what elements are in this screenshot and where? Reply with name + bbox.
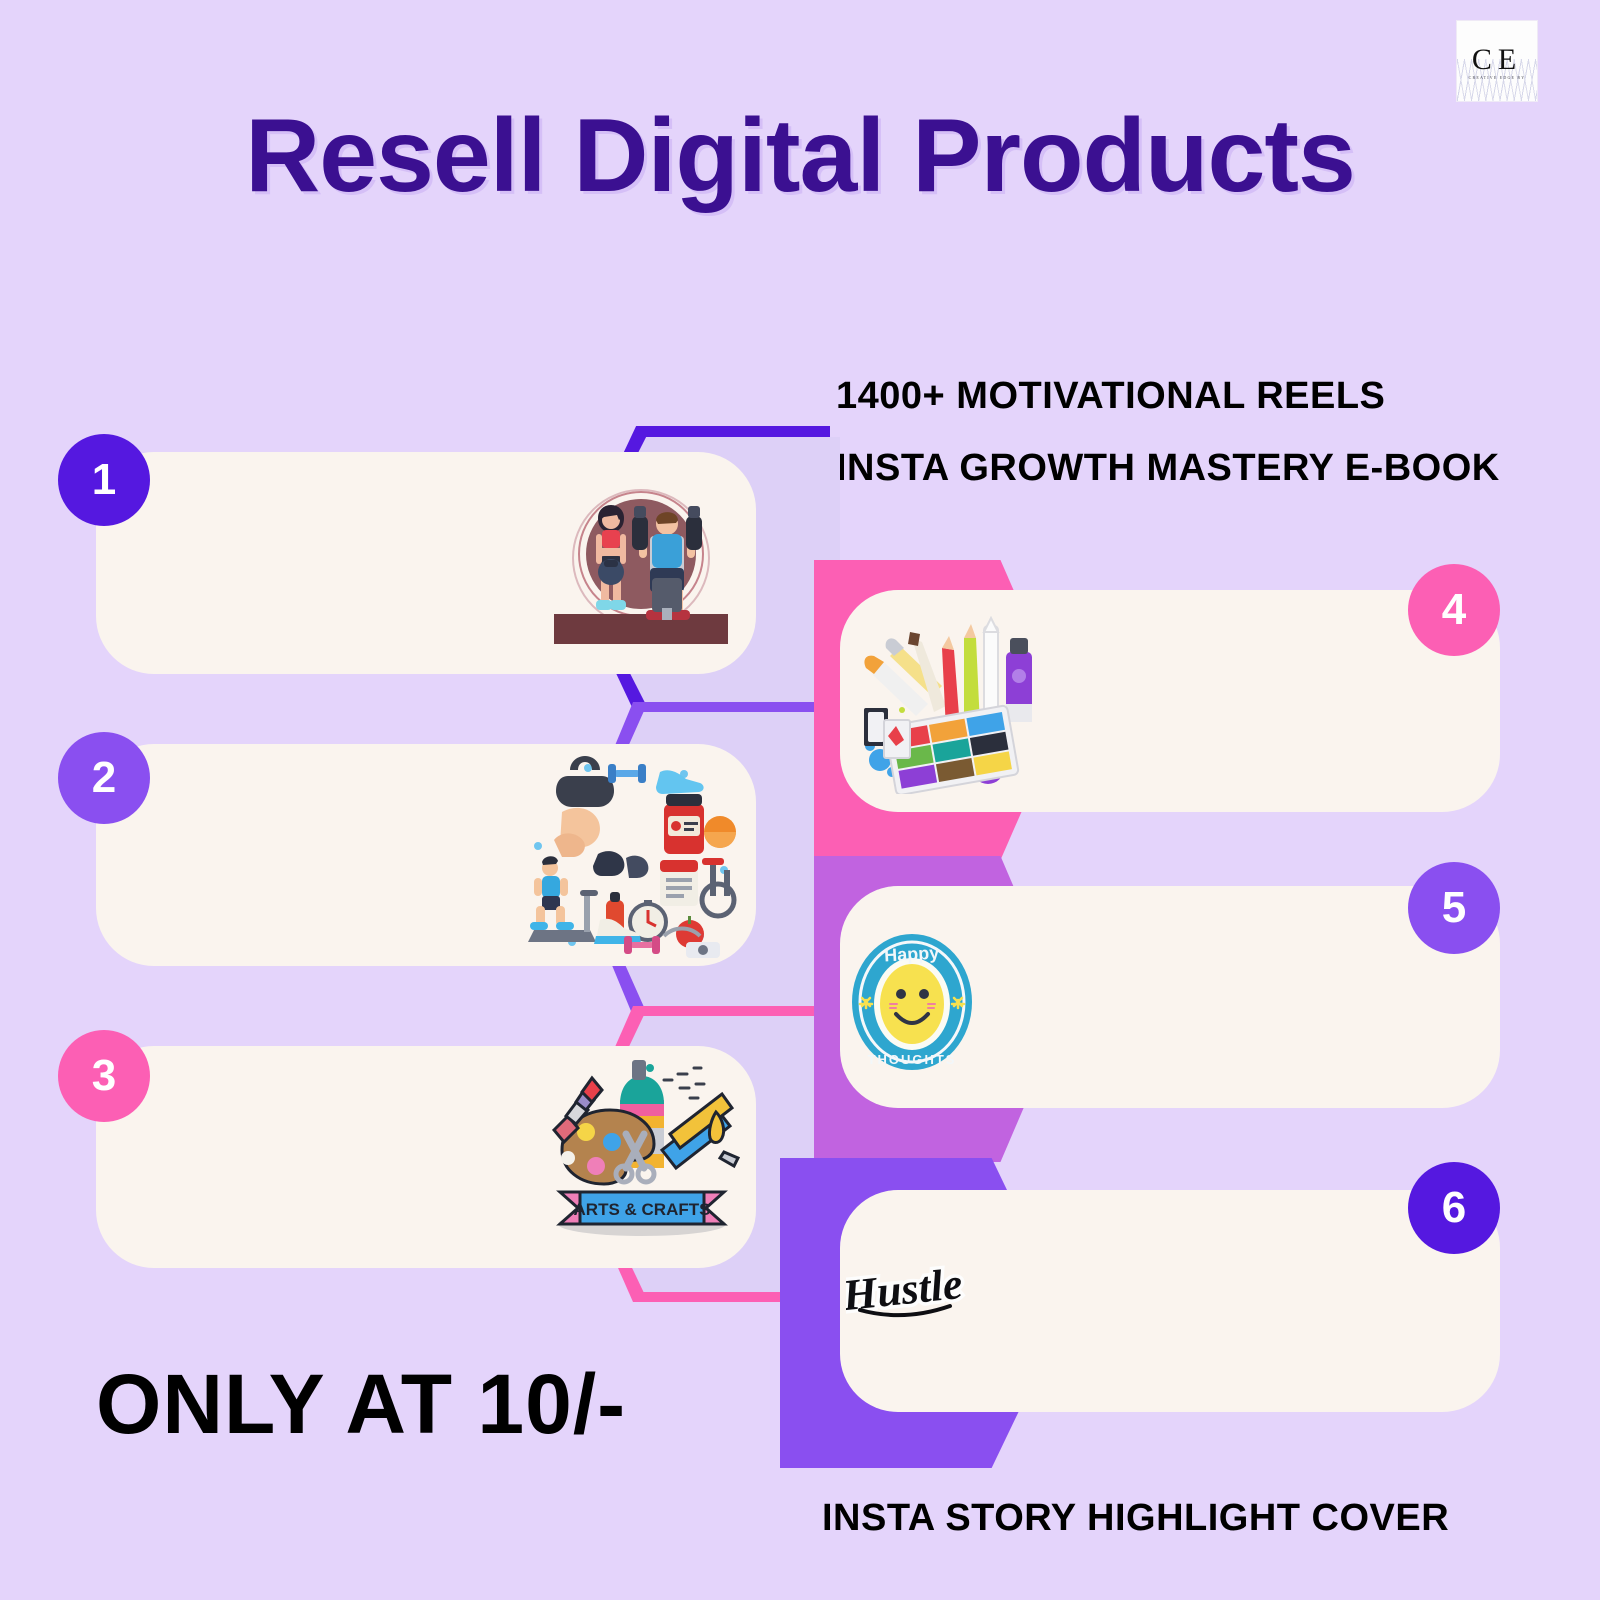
- infographic-canvas: CE CREATIVE EDGE BY Resell Digital Produ…: [0, 0, 1600, 1600]
- badge-product-5: 5: [1408, 862, 1500, 954]
- page-title: Resell Digital Products: [0, 104, 1600, 208]
- badge-number: 3: [92, 1051, 116, 1101]
- badge-product-6: 6: [1408, 1162, 1500, 1254]
- badge-number: 1: [92, 455, 116, 505]
- logo-tagline: CREATIVE EDGE BY: [1457, 75, 1537, 80]
- gym-workout-icon: [546, 472, 736, 654]
- paint-palette-icon: [848, 612, 1040, 794]
- headline-top-ebook: INSTA GROWTH MASTERY E-BOOK: [836, 447, 1500, 490]
- badge-product-2: 2: [58, 732, 150, 824]
- badge-number: 6: [1442, 1183, 1466, 1233]
- brand-logo: CE CREATIVE EDGE BY: [1456, 20, 1538, 102]
- happy-thoughts-smiley-icon: Happy THOUGHTS: [846, 930, 978, 1074]
- fitness-products-icon: [514, 750, 746, 962]
- badge-number: 4: [1442, 585, 1466, 635]
- price-callout: ONLY AT 10/-: [96, 1356, 626, 1453]
- badge-number: 2: [92, 753, 116, 803]
- logo-monogram: CE: [1457, 45, 1537, 75]
- logo-inner: CE CREATIVE EDGE BY: [1457, 21, 1537, 101]
- headline-top-reels: 1400+ MOTIVATIONAL REELS: [836, 375, 1385, 418]
- badge-product-3: 3: [58, 1030, 150, 1122]
- arts-and-crafts-icon: ARTS & CRAFTS: [538, 1042, 746, 1242]
- badge-product-1: 1: [58, 434, 150, 526]
- thoughts-text: THOUGHTS: [868, 1052, 957, 1067]
- badge-product-4: 4: [1408, 564, 1500, 656]
- happy-text: Happy: [884, 943, 940, 966]
- arts-banner-text: ARTS & CRAFTS: [574, 1200, 711, 1219]
- headline-bottom-highlight-cover: INSTA STORY HIGHLIGHT COVER: [822, 1497, 1449, 1540]
- badge-number: 5: [1442, 883, 1466, 933]
- hustle-script-icon: Hustle: [846, 1248, 966, 1334]
